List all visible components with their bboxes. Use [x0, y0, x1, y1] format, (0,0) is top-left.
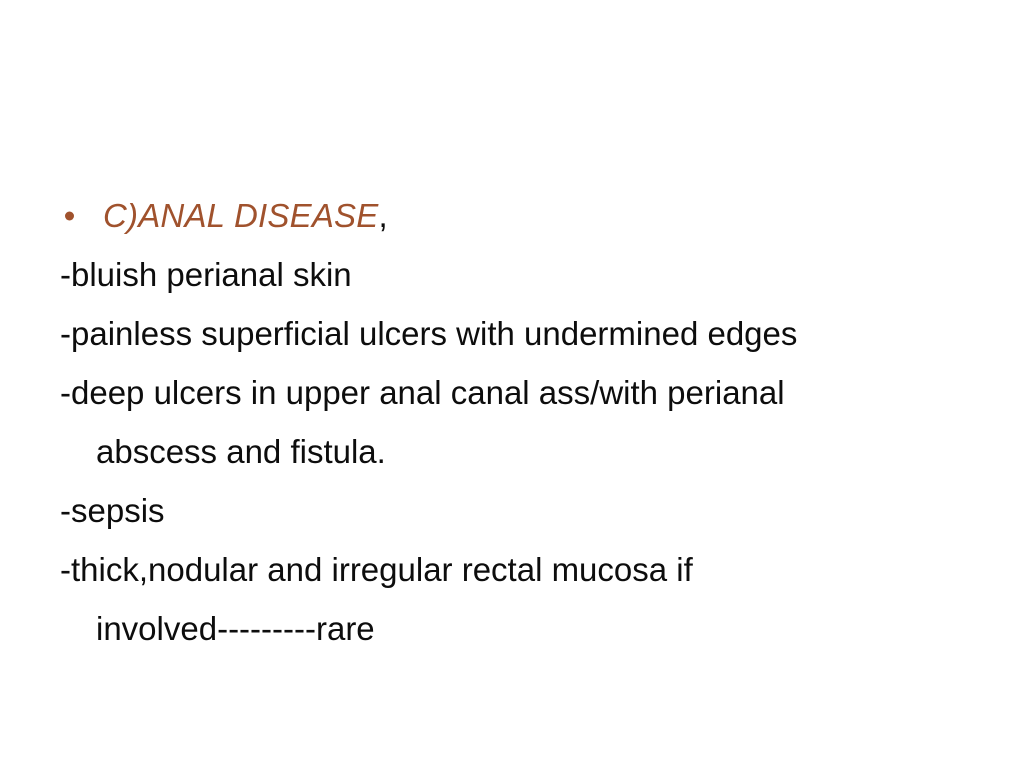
heading-trailing-punctuation: , — [378, 197, 387, 234]
heading-emphasis-text: C)ANAL DISEASE — [103, 197, 378, 234]
body-line-text: -sepsis — [60, 492, 165, 529]
body-line-text: -bluish perianal skin — [60, 256, 352, 293]
slide-content-body: C)ANAL DISEASE, -bluish perianal skin -p… — [58, 186, 970, 658]
bullet-list-item-heading: C)ANAL DISEASE, — [58, 186, 970, 245]
body-line-bluish-perianal-skin: -bluish perianal skin — [58, 245, 970, 304]
body-line-text: -painless superficial ulcers with underm… — [60, 315, 797, 352]
body-line-sepsis: -sepsis — [58, 481, 970, 540]
body-line-deep-ulcers: -deep ulcers in upper anal canal ass/wit… — [58, 363, 970, 481]
body-line-continuation: involved---------rare — [60, 599, 970, 658]
body-line-painless-superficial-ulcers: -painless superficial ulcers with underm… — [58, 304, 970, 363]
body-line-text: -deep ulcers in upper anal canal ass/wit… — [60, 374, 785, 411]
body-line-thick-nodular-mucosa: -thick,nodular and irregular rectal muco… — [58, 540, 970, 658]
slide-canvas: C)ANAL DISEASE, -bluish perianal skin -p… — [0, 0, 1024, 768]
round-bullet-icon — [65, 211, 74, 220]
body-line-continuation: abscess and fistula. — [60, 422, 970, 481]
body-line-text: -thick,nodular and irregular rectal muco… — [60, 551, 693, 588]
